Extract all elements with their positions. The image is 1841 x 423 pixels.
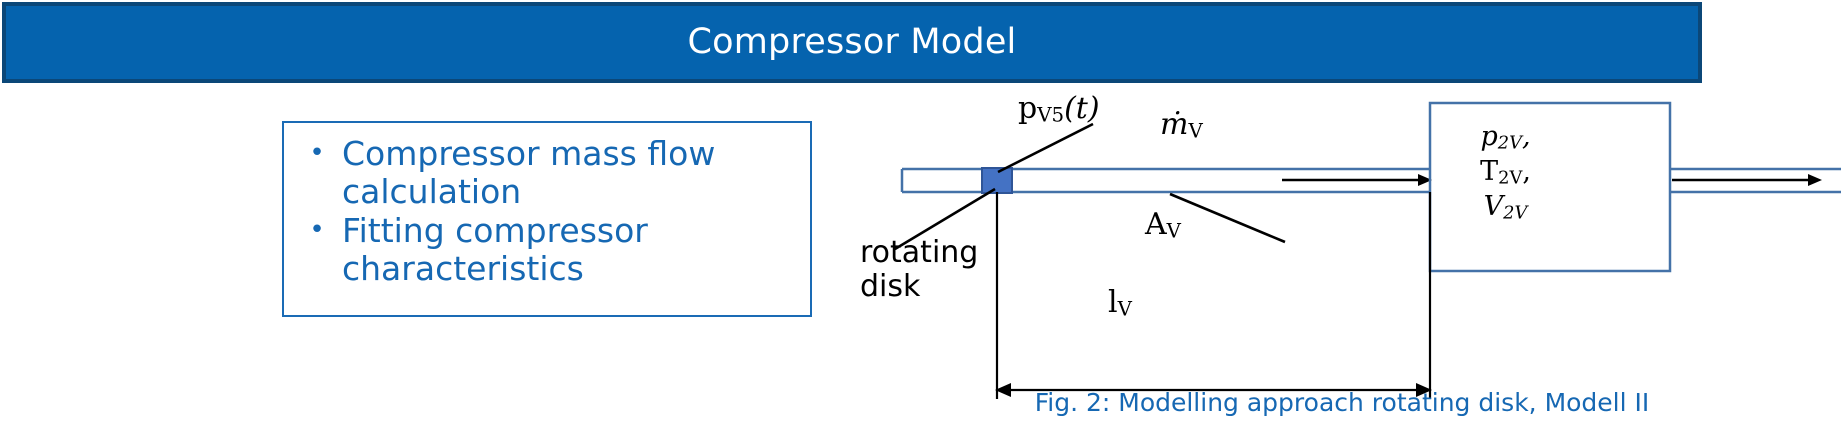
volume-volume-subscript: 2V [1503,203,1527,224]
volume-pressure-symbol: p [1480,121,1497,152]
list-item: • Compressor mass flow calculation [292,135,800,212]
volume-pressure-separator: , [1522,121,1531,152]
slide-title-banner: Compressor Model [2,2,1702,83]
bullet-list-box: • Compressor mass flow calculation • Fit… [282,121,812,317]
rotating-disk-label: rotating disk [860,236,978,303]
rotating-disk-shape [982,168,1012,193]
volume-pressure-line: p2V, [1423,120,1588,155]
length-subscript: V [1118,298,1132,321]
area-subscript: V [1167,220,1181,243]
length-label: lV [1108,288,1132,319]
figure-caption: Fig. 2: Modelling approach rotating disk… [912,390,1772,415]
volume-temperature-symbol: T [1480,156,1498,187]
volume-volume-symbol: V [1484,191,1504,222]
area-label: AV [1145,210,1181,241]
modelling-diagram: pV5(t) ṁV AV lV rotating disk p2V, T2V,… [840,84,1841,423]
bullet-item-label: Compressor mass flow calculation [342,135,800,212]
volume-temperature-line: T2V, [1423,155,1588,190]
leader-line-area [1170,194,1285,242]
volume-temperature-separator: , [1522,156,1531,187]
bullet-marker-icon: • [292,212,342,250]
volume-pressure-subscript: 2V [1498,133,1522,154]
pressure-symbol: p [1018,91,1037,126]
bullet-item-label: Fitting compressor characteristics [342,212,800,289]
pressure-subscript: V5 [1037,104,1064,127]
diagram-svg [840,84,1841,423]
area-symbol: A [1145,207,1167,242]
volume-box-variables: p2V, T2V, V2V [1423,120,1588,225]
length-symbol: l [1108,285,1118,320]
mass-flow-subscript: V [1188,120,1202,143]
outlet-flow-arrow-icon [1672,174,1822,186]
bullet-marker-icon: • [292,135,342,173]
mass-flow-label: ṁV [1160,110,1203,141]
page-title: Compressor Model [687,25,1016,60]
volume-temperature-subscript: 2V [1498,168,1522,189]
mass-flow-arrow-icon [1282,174,1432,186]
volume-volume-line: V2V [1423,190,1588,225]
pressure-label: pV5(t) [1018,94,1100,125]
mass-flow-symbol: ṁ [1160,107,1188,142]
list-item: • Fitting compressor characteristics [292,212,800,289]
leader-line-pressure [998,124,1093,172]
pressure-argument: (t) [1064,91,1099,126]
